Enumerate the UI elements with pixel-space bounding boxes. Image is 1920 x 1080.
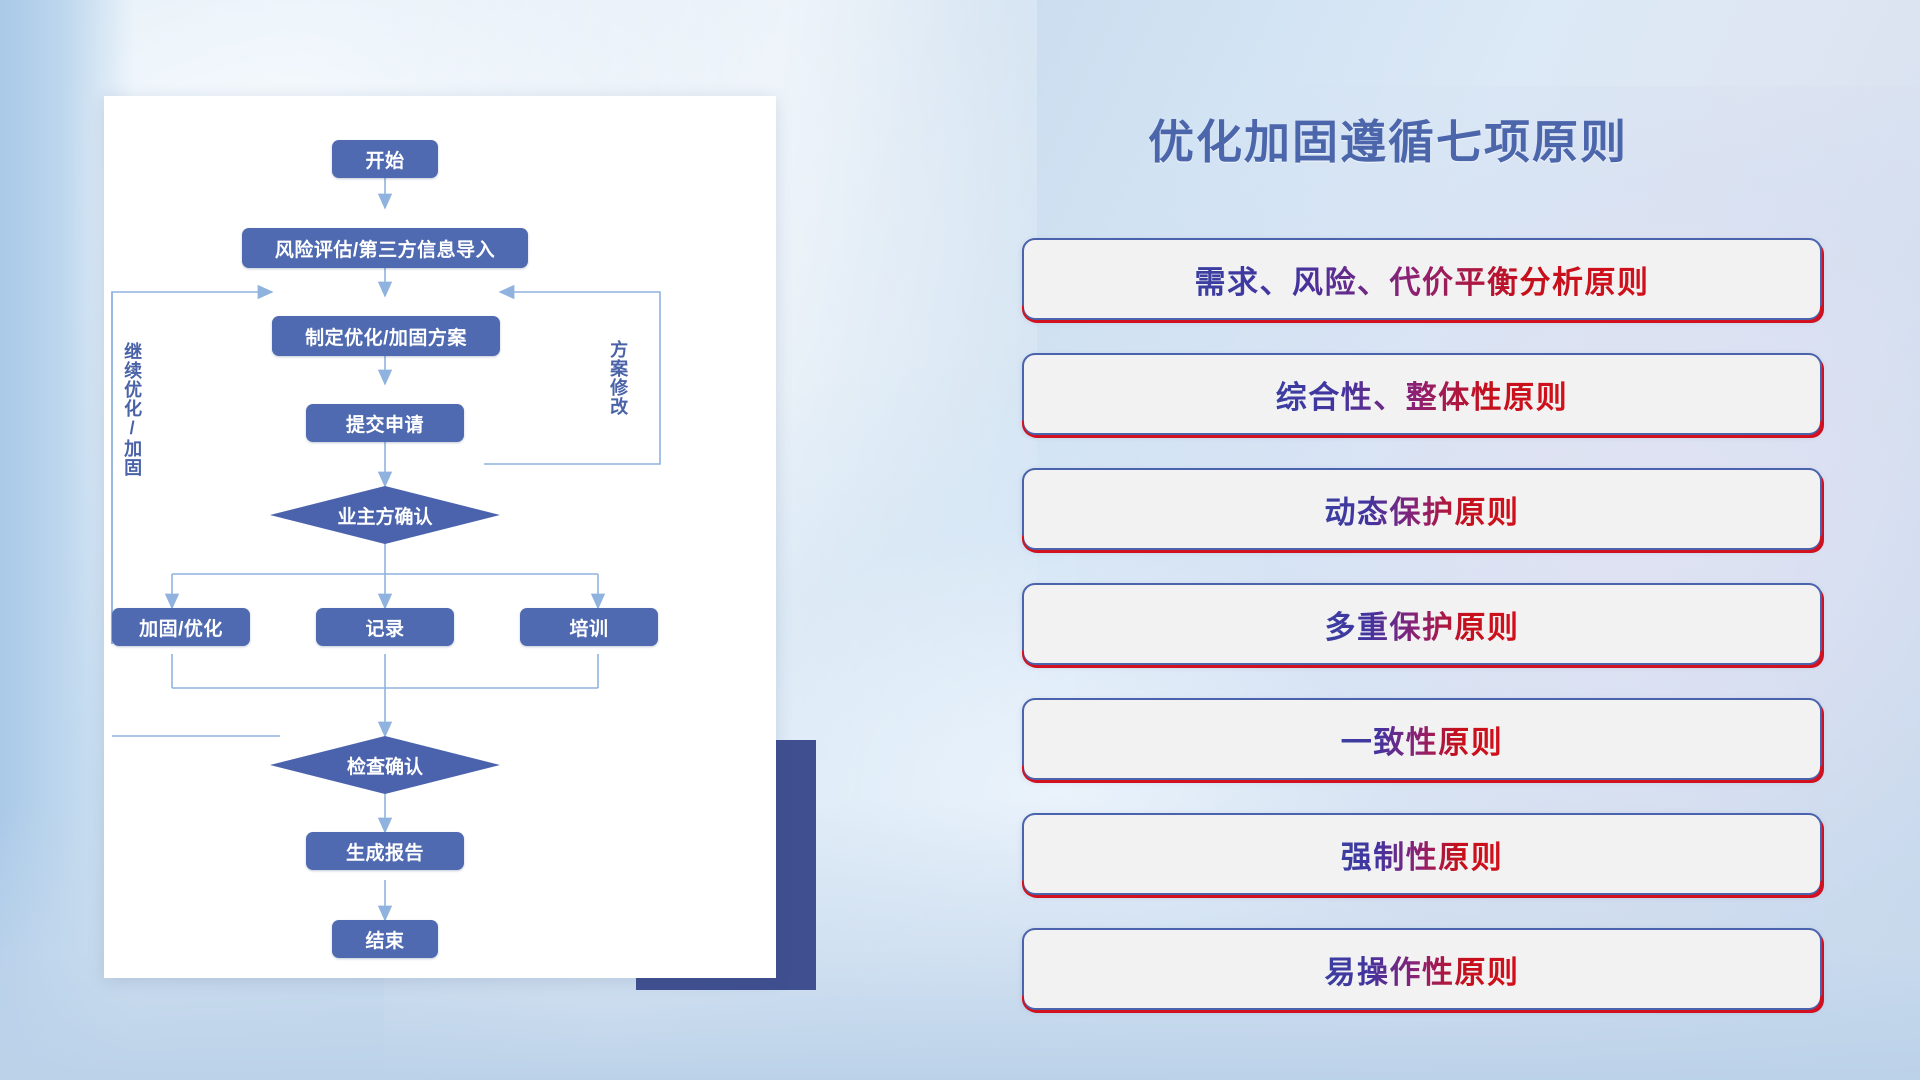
principle-card-4[interactable]: 多重保护原则 [1022,583,1822,665]
principle-label-4: 多重保护原则 [1325,602,1520,647]
flow-edge-label-plan-revision: 方案修改 [608,340,628,416]
flow-node-end-label: 结束 [365,926,404,953]
flow-node-check-confirm[interactable]: 检查确认 [270,736,500,794]
flow-node-plan-label: 制定优化/加固方案 [305,323,467,350]
flow-node-train[interactable]: 培训 [520,608,658,646]
principle-label-7: 易操作性原则 [1325,947,1520,992]
principle-label-2: 综合性、整体性原则 [1276,372,1569,417]
page-title: 优化加固遵循七项原则 [1148,106,1628,172]
flow-node-check-confirm-label: 检查确认 [347,752,423,779]
flow-node-report[interactable]: 生成报告 [306,832,464,870]
flow-node-owner-confirm[interactable]: 业主方确认 [270,486,500,544]
principle-card-5[interactable]: 一致性原则 [1022,698,1822,780]
principle-label-1: 需求、风险、代价平衡分析原则 [1195,257,1650,302]
principle-label-6: 强制性原则 [1341,832,1504,877]
principle-card-6[interactable]: 强制性原则 [1022,813,1822,895]
flow-node-start[interactable]: 开始 [332,140,438,178]
flowchart-card: 开始 风险评估/第三方信息导入 制定优化/加固方案 提交申请 业主方确认 加固/… [104,96,776,978]
principle-card-2[interactable]: 综合性、整体性原则 [1022,353,1822,435]
flow-node-end[interactable]: 结束 [332,920,438,958]
flow-node-submit[interactable]: 提交申请 [306,404,464,442]
flowchart-diagram: 开始 风险评估/第三方信息导入 制定优化/加固方案 提交申请 业主方确认 加固/… [104,96,776,978]
flow-node-submit-label: 提交申请 [346,410,424,437]
flow-edge-label-continue-optimize: 继续优化/加固 [122,342,142,477]
flow-node-assess[interactable]: 风险评估/第三方信息导入 [242,228,528,268]
flow-node-train-label: 培训 [569,614,608,641]
principle-card-7[interactable]: 易操作性原则 [1022,928,1822,1010]
principle-label-3: 动态保护原则 [1325,487,1520,532]
principle-card-3[interactable]: 动态保护原则 [1022,468,1822,550]
flow-node-start-label: 开始 [365,146,404,173]
flow-node-record[interactable]: 记录 [316,608,454,646]
flow-node-report-label: 生成报告 [346,838,424,865]
flow-node-reinforce[interactable]: 加固/优化 [112,608,250,646]
flow-node-record-label: 记录 [365,614,404,641]
flow-node-assess-label: 风险评估/第三方信息导入 [275,235,495,262]
flow-node-reinforce-label: 加固/优化 [139,614,223,641]
principle-label-5: 一致性原则 [1341,717,1504,762]
principle-card-1[interactable]: 需求、风险、代价平衡分析原则 [1022,238,1822,320]
principles-list: 需求、风险、代价平衡分析原则 综合性、整体性原则 动态保护原则 多重保护原则 一… [1022,238,1822,1010]
flow-node-owner-confirm-label: 业主方确认 [337,502,432,529]
flow-node-plan[interactable]: 制定优化/加固方案 [272,316,500,356]
